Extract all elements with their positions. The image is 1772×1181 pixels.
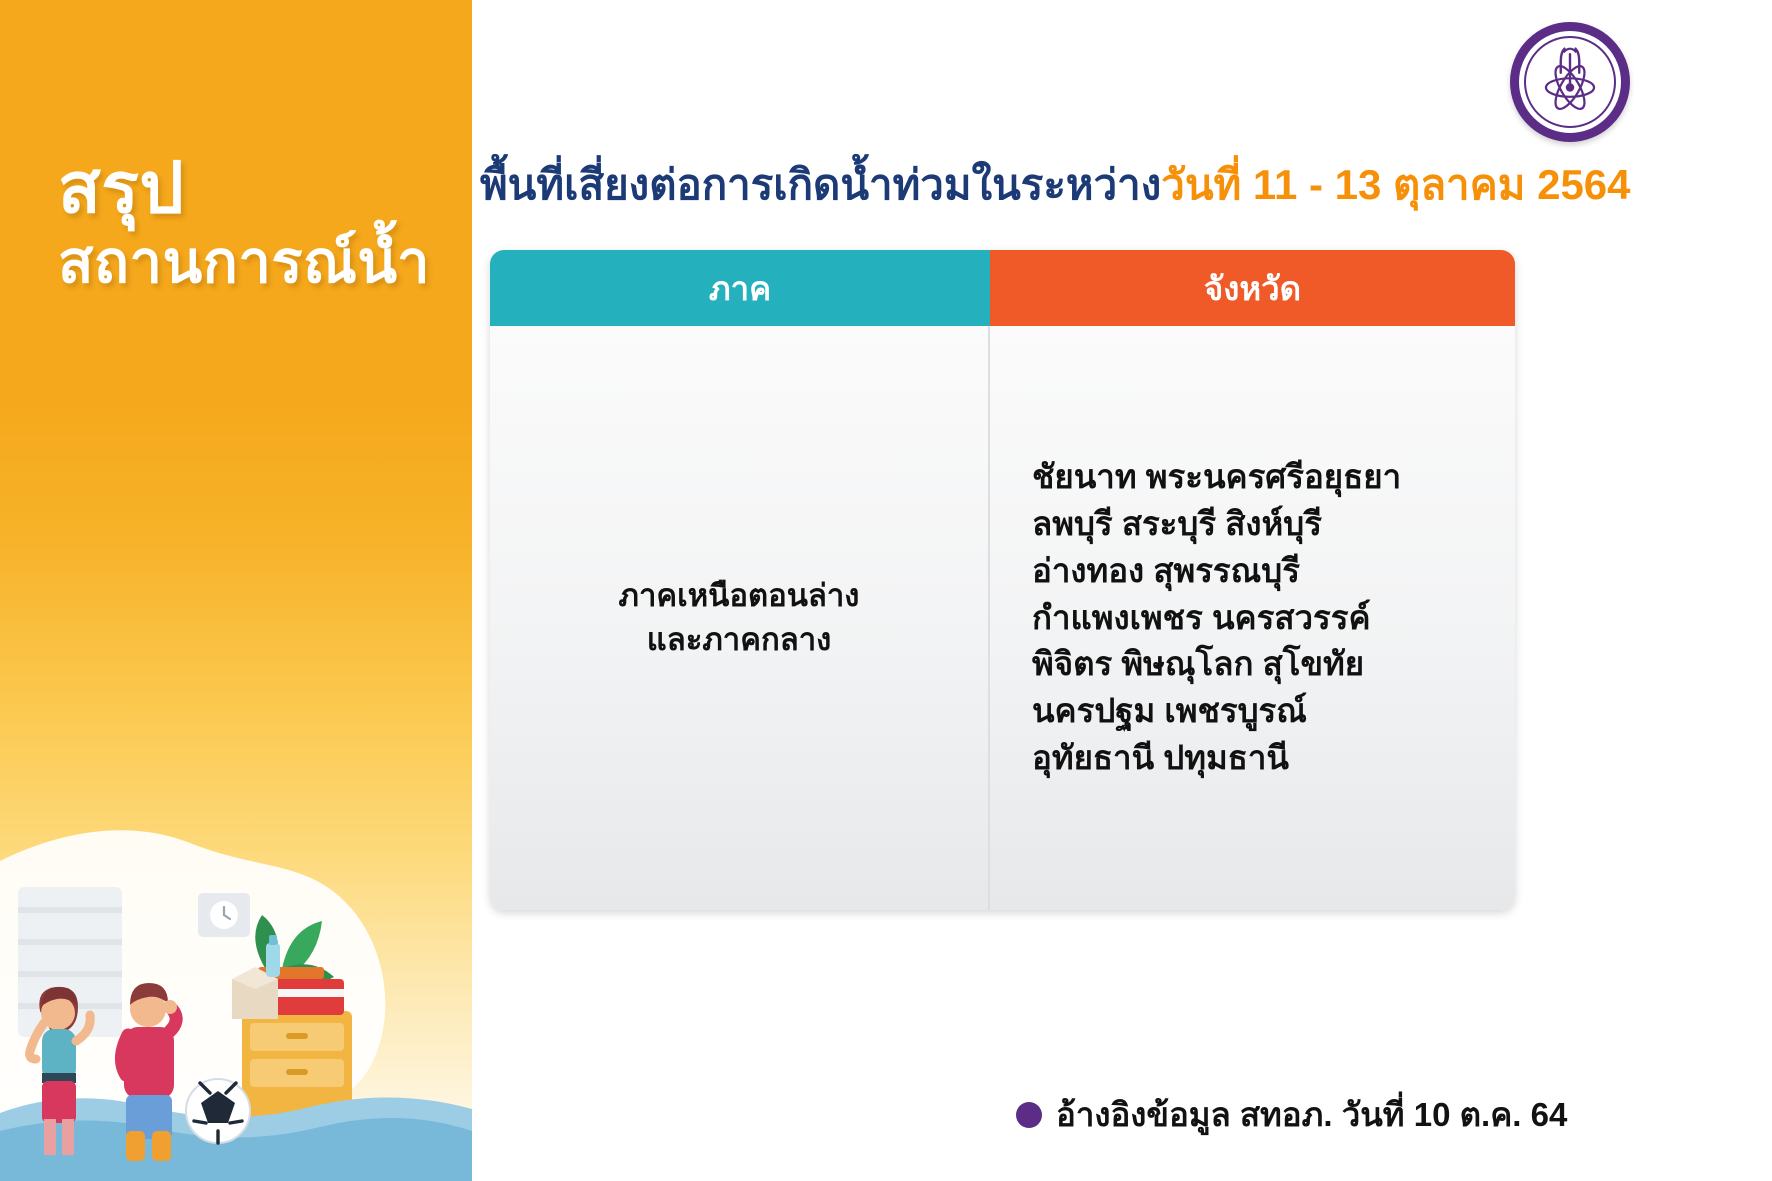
table-header-row: ภาค จังหวัด <box>490 250 1515 326</box>
page-title-navy: พื้นที่เสี่ยงต่อการเกิดน้ำท่วมในระหว่าง <box>480 161 1161 208</box>
sidebar-title-line1: สรุป <box>58 149 184 227</box>
region-line-1: ภาคเหนือตอนล่าง <box>619 578 860 613</box>
flooded-room-people-illustration <box>0 711 472 1181</box>
sidebar-title: สรุป สถานการณ์น้ำ <box>58 148 458 296</box>
region-line-2: และภาคกลาง <box>647 622 832 657</box>
content-area: กระทรวงการอุดมศึกษา วิทยาศาสตร์ วิจัยและ… <box>472 0 1772 1181</box>
province-line-1: ชัยนาท พระนครศรีอยุธยา <box>1032 454 1401 501</box>
province-line-3: อ่างทอง สุพรรณบุรี <box>1032 548 1401 595</box>
logo-emblem <box>1524 36 1616 128</box>
province-line-7: อุทัยธานี ปทุมธานี <box>1032 735 1401 782</box>
province-line-4: กำแพงเพชร นครสวรรค์ <box>1032 595 1401 642</box>
infographic-page: สรุป สถานการณ์น้ำ <box>0 0 1772 1181</box>
cell-region: ภาคเหนือตอนล่าง และภาคกลาง <box>490 326 990 910</box>
province-line-2: ลพบุรี สระบุรี สิงห์บุรี <box>1032 501 1401 548</box>
column-header-province: จังหวัด <box>990 250 1515 326</box>
cell-province: ชัยนาท พระนครศรีอยุธยา ลพบุรี สระบุรี สิ… <box>990 326 1515 910</box>
table-row: ภาคเหนือตอนล่าง และภาคกลาง ชัยนาท พระนคร… <box>490 326 1515 910</box>
sidebar-panel: สรุป สถานการณ์น้ำ <box>0 0 472 1181</box>
province-line-5: พิจิตร พิษณุโลก สุโขทัย <box>1032 641 1401 688</box>
page-title: พื้นที่เสี่ยงต่อการเกิดน้ำท่วมในระหว่างว… <box>480 162 1770 208</box>
page-title-orange: วันที่ 11 - 13 ตุลาคม 2564 <box>1161 161 1630 208</box>
risk-areas-table: ภาค จังหวัด ภาคเหนือตอนล่าง และภาคกลาง ช… <box>490 250 1515 910</box>
source-note: อ้างอิงข้อมูล สทอภ. วันที่ 10 ต.ค. 64 <box>1016 1088 1567 1141</box>
atom-trident-icon <box>1533 45 1607 119</box>
bullet-dot-icon <box>1016 1102 1042 1128</box>
sidebar-title-line2: สถานการณ์น้ำ <box>58 229 458 296</box>
column-header-region: ภาค <box>490 250 990 326</box>
province-line-6: นครปฐม เพชรบูรณ์ <box>1032 688 1401 735</box>
ministry-logo: กระทรวงการอุดมศึกษา วิทยาศาสตร์ วิจัยและ… <box>1510 22 1630 142</box>
source-note-text: อ้างอิงข้อมูล สทอภ. วันที่ 10 ต.ค. 64 <box>1056 1088 1567 1141</box>
